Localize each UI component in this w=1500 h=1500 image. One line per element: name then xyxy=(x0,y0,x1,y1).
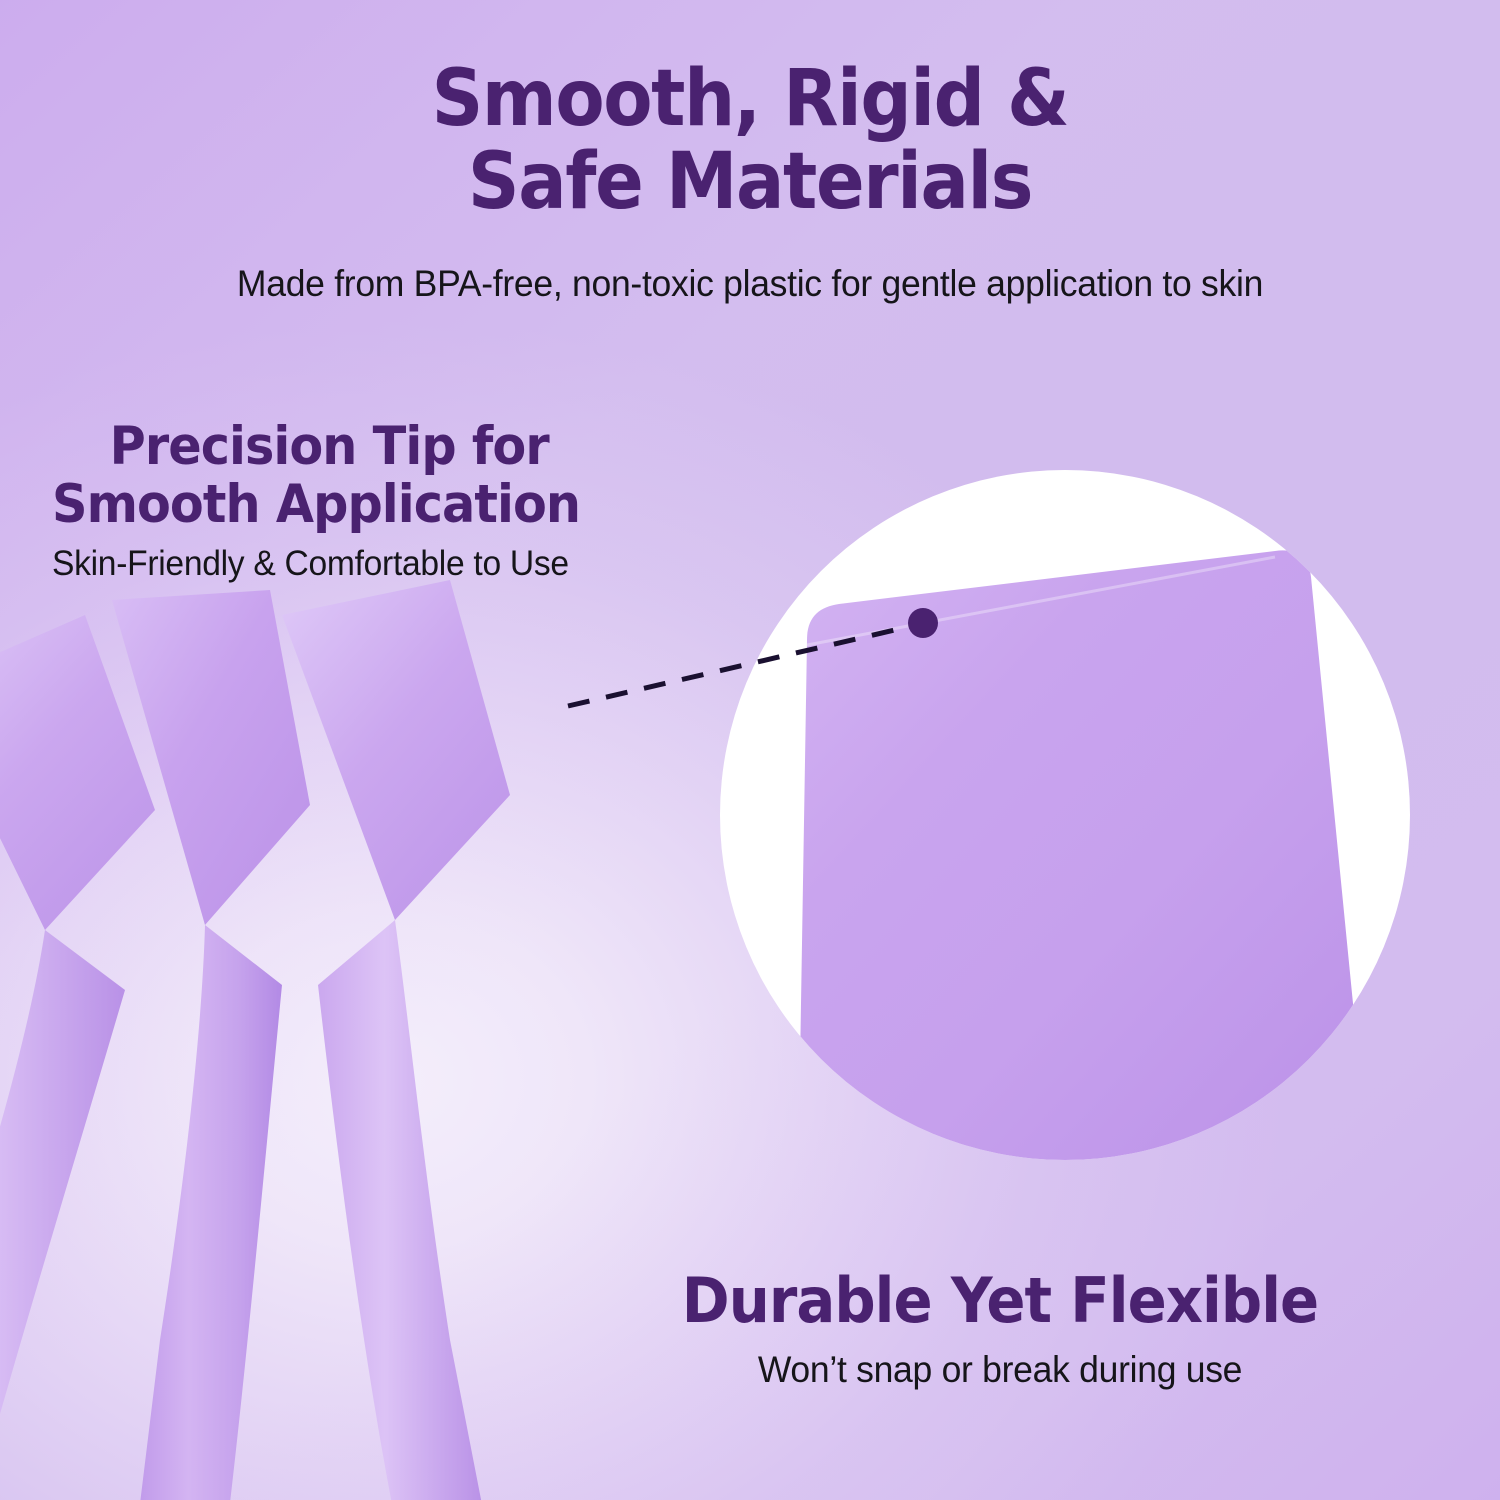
dashed-line xyxy=(568,626,912,706)
spatula-2 xyxy=(0,615,155,1500)
magnifier-circle xyxy=(715,465,1415,1165)
callout-leader-line xyxy=(540,580,970,740)
product-infographic: Smooth, Rigid & Safe Materials Made from… xyxy=(0,0,1500,1500)
feature-precision-tip-subtitle: Skin-Friendly & Comfortable to Use xyxy=(52,544,724,584)
feature-precision-tip-title: Precision Tip for Smooth Application xyxy=(52,418,703,534)
feature-durable-flexible: Durable Yet Flexible Won’t snap or break… xyxy=(540,1268,1460,1391)
feature-precision-tip-title-line2: Smooth Application xyxy=(52,476,703,534)
callout-dot-icon xyxy=(908,608,938,638)
page-title-line1: Smooth, Rigid & xyxy=(432,54,1069,144)
spatula-4-precision-tip xyxy=(282,580,510,1500)
page-title-line2: Safe Materials xyxy=(60,141,1440,224)
spatula-3 xyxy=(112,590,310,1500)
page-title: Smooth, Rigid & Safe Materials xyxy=(60,58,1440,225)
page-subtitle: Made from BPA-free, non-toxic plastic fo… xyxy=(30,263,1470,305)
feature-precision-tip: Precision Tip for Smooth Application Ski… xyxy=(52,418,752,584)
feature-durable-flexible-title: Durable Yet Flexible xyxy=(572,1268,1428,1333)
feature-precision-tip-title-line1: Precision Tip for xyxy=(52,418,703,476)
feature-durable-flexible-subtitle: Won’t snap or break during use xyxy=(558,1349,1441,1391)
